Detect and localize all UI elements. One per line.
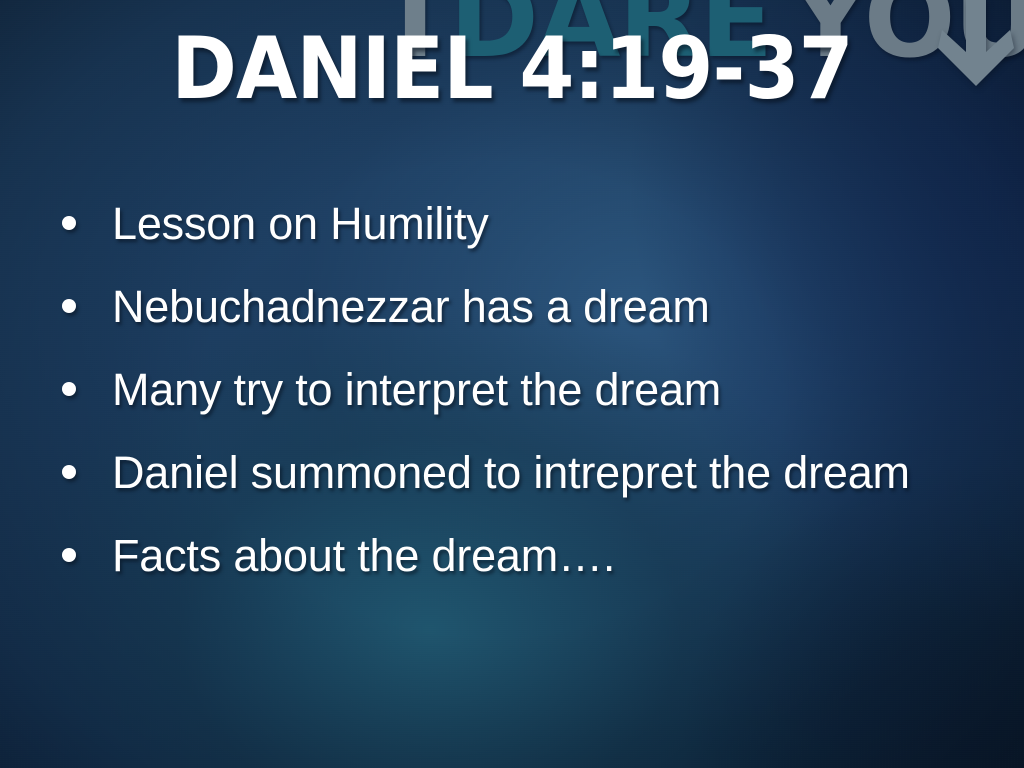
bullet-point-icon bbox=[62, 382, 76, 396]
bullet-point-icon bbox=[62, 465, 76, 479]
list-item: Facts about the dream…. bbox=[62, 528, 1000, 611]
bullet-point-icon bbox=[62, 299, 76, 313]
list-item: Nebuchadnezzar has a dream bbox=[62, 279, 1000, 362]
list-item-label: Daniel summoned to intrepret the dream bbox=[112, 445, 910, 501]
list-item-label: Nebuchadnezzar has a dream bbox=[112, 279, 710, 335]
list-item: Lesson on Humility bbox=[62, 196, 1000, 279]
presentation-slide: I DARE YOU DANIEL 4:19-37 Lesson on Humi… bbox=[0, 0, 1024, 768]
list-item: Daniel summoned to intrepret the dream bbox=[62, 445, 1000, 528]
list-item-label: Facts about the dream…. bbox=[112, 528, 615, 584]
bullet-point-icon bbox=[62, 548, 76, 562]
slide-title: DANIEL 4:19-37 bbox=[41, 26, 983, 112]
bullet-point-icon bbox=[62, 216, 76, 230]
list-item-label: Many try to interpret the dream bbox=[112, 362, 721, 418]
list-item: Many try to interpret the dream bbox=[62, 362, 1000, 445]
list-item-label: Lesson on Humility bbox=[112, 196, 489, 252]
bullet-list: Lesson on Humility Nebuchadnezzar has a … bbox=[62, 196, 1000, 611]
